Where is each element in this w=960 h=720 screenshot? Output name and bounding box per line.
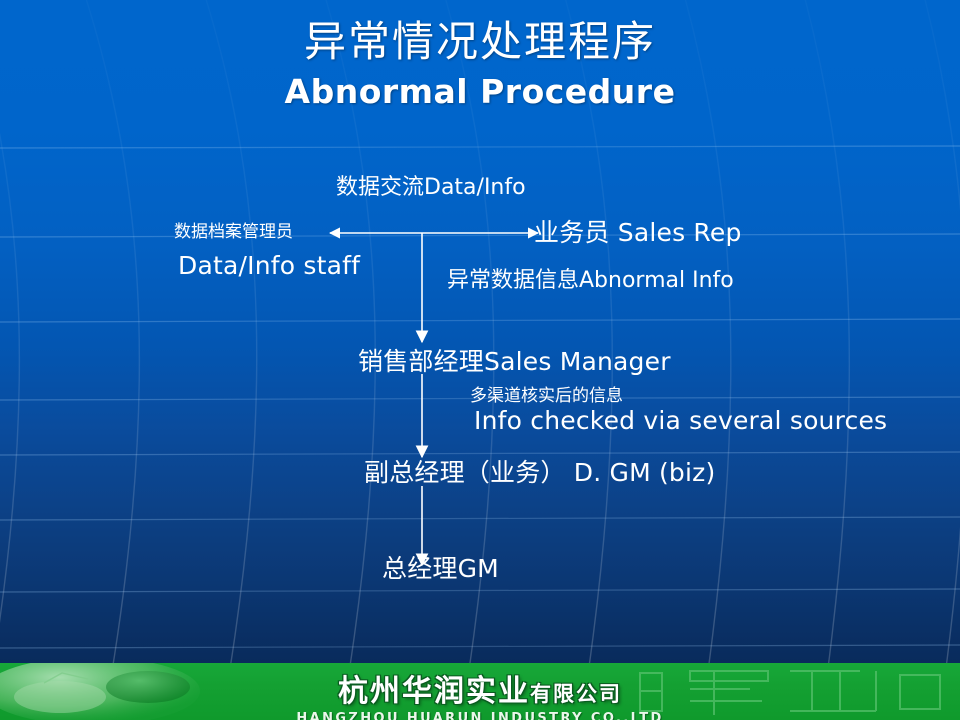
banner-company-cn-main: 杭州华润实业 [338, 674, 530, 709]
banner-company-en: HANGZHOU HUARUN INDUSTRY CO.,LTD [0, 711, 960, 720]
page-title-cn: 异常情况处理程序 [0, 8, 960, 69]
slide-canvas: 异常情况处理程序 Abnormal Procedure [0, 0, 960, 720]
node-sales-rep: 业务员 Sales Rep [534, 220, 742, 245]
node-sales-manager: 销售部经理Sales Manager [358, 349, 671, 374]
node-data-info-staff-cn: 数据档案管理员 [174, 224, 293, 241]
company-banner: 杭州华润实业有限公司 HANGZHOU HUARUN INDUSTRY CO.,… [0, 663, 960, 720]
node-gm: 总经理GM [382, 556, 499, 581]
edge-label-checked-cn: 多渠道核实后的信息 [470, 388, 623, 405]
edge-label-abnormal-info: 异常数据信息Abnormal Info [447, 270, 734, 292]
page-title-en: Abnormal Procedure [0, 72, 960, 111]
node-data-info-staff-en: Data/Info staff [178, 253, 360, 278]
edge-label-data-info: 数据交流Data/Info [336, 177, 526, 199]
banner-company-cn: 杭州华润实业有限公司 [0, 666, 960, 710]
edge-label-checked-en: Info checked via several sources [474, 408, 887, 433]
node-deputy-gm: 副总经理（业务） D. GM (biz) [364, 460, 715, 485]
banner-company-cn-suffix: 有限公司 [530, 682, 622, 706]
